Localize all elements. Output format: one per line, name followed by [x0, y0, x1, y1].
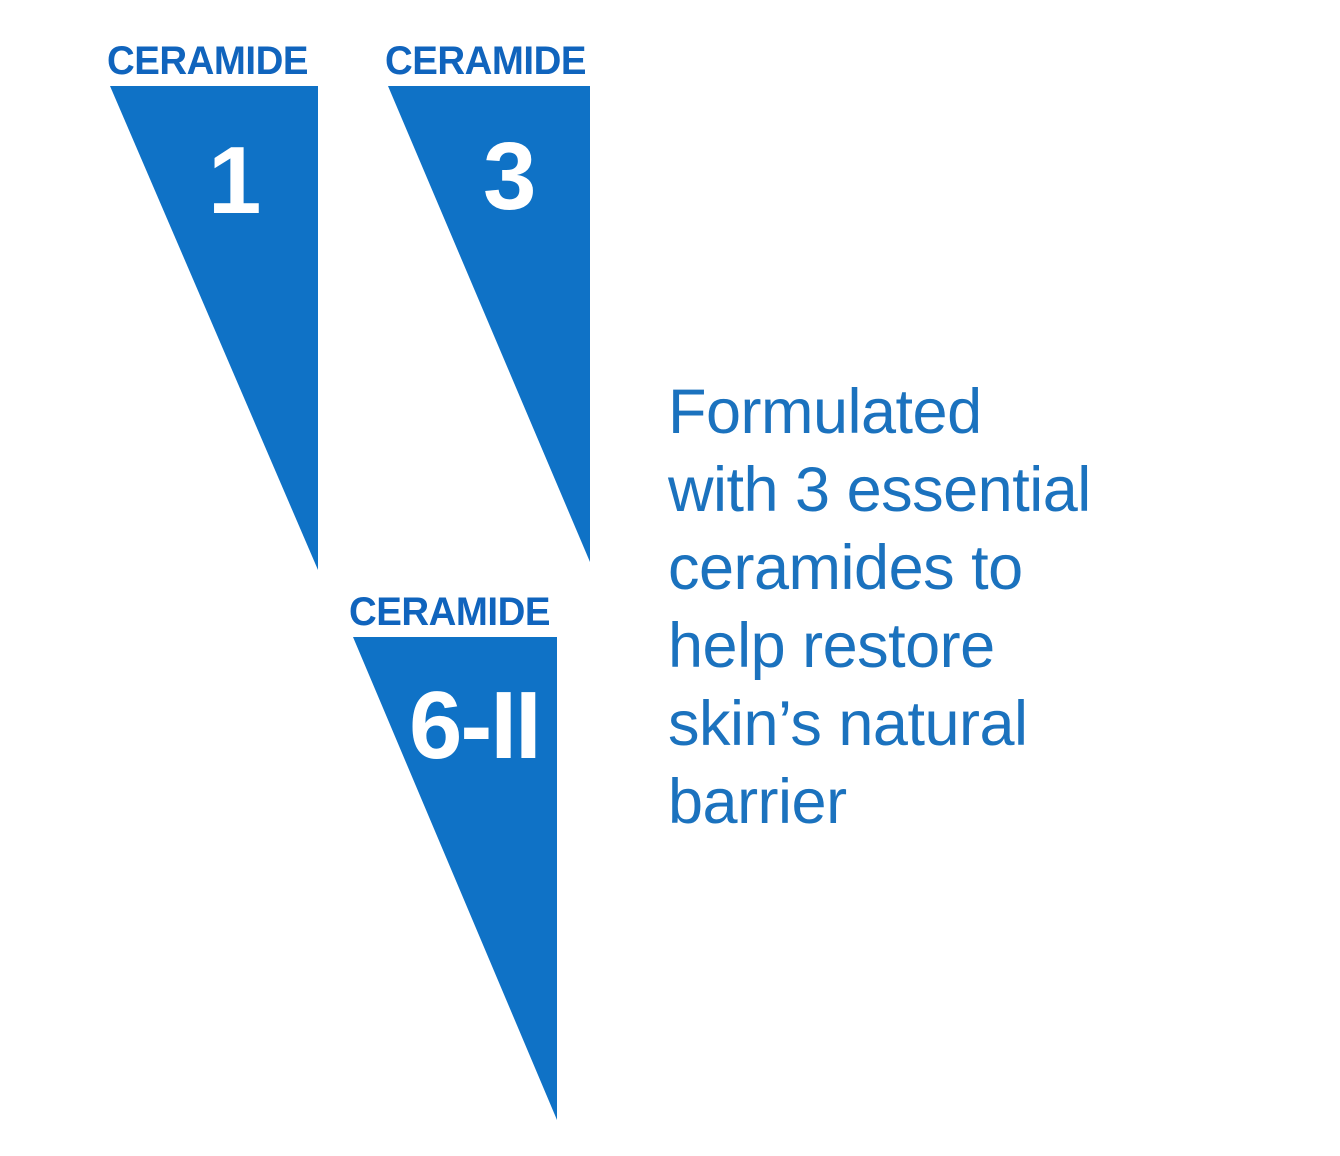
ceramide-6-11-number: 6-II: [409, 678, 540, 774]
headline-block: Formulated with 3 essential ceramides to…: [668, 373, 1188, 841]
ceramide-1-label: CERAMIDE: [107, 41, 308, 81]
headline-line-1: Formulated: [668, 373, 1188, 451]
ceramide-1-number: 1: [208, 133, 260, 229]
infographic-canvas: CERAMIDE 1 CERAMIDE 3 CERAMIDE 6-II Form…: [0, 0, 1340, 1156]
headline-line-5: skin’s natural: [668, 685, 1188, 763]
headline-line-2: with 3 essential: [668, 451, 1188, 529]
ceramide-3-label: CERAMIDE: [385, 41, 586, 81]
headline-line-4: help restore: [668, 607, 1188, 685]
headline-line-6: barrier: [668, 763, 1188, 841]
headline-line-3: ceramides to: [668, 529, 1188, 607]
ceramide-6-11-label: CERAMIDE: [349, 592, 550, 632]
ceramide-3-number: 3: [483, 129, 535, 225]
